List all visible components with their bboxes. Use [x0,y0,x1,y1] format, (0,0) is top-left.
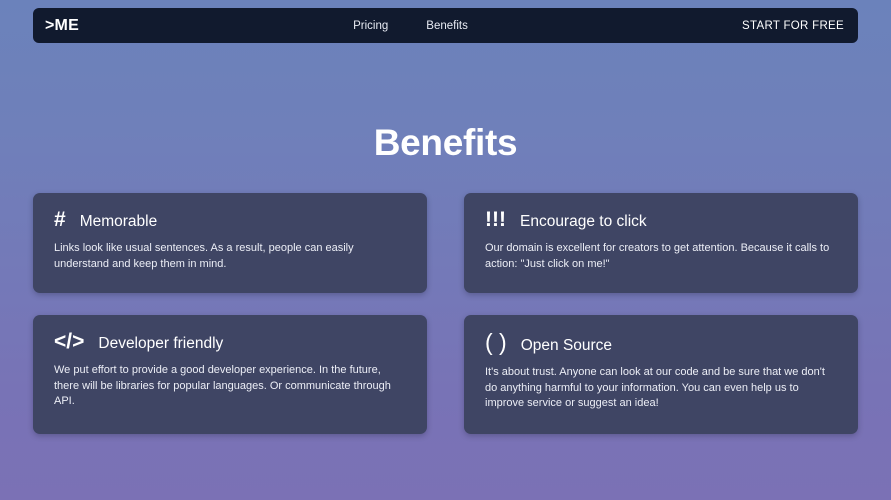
card-description: Links look like usual sentences. As a re… [54,241,406,272]
benefit-card-open-source: ( ) Open Source It's about trust. Anyone… [464,315,858,434]
benefit-card-developer-friendly: </> Developer friendly We put effort to … [33,315,427,434]
nav-links: Pricing Benefits [79,20,742,32]
card-header: # Memorable [54,209,407,230]
card-description: It's about trust. Anyone can look at our… [485,365,838,412]
card-description: We put effort to provide a good develope… [54,363,406,410]
card-header: </> Developer friendly [54,331,407,352]
hash-icon: # [54,209,66,230]
start-for-free-button[interactable]: START FOR FREE [742,18,844,34]
code-tag-icon: </> [54,331,84,352]
card-header: ( ) Open Source [485,331,838,354]
card-title: Memorable [80,214,158,230]
benefit-card-memorable: # Memorable Links look like usual senten… [33,193,427,293]
card-description: Our domain is excellent for creators to … [485,241,837,272]
benefits-grid: # Memorable Links look like usual senten… [33,193,858,434]
parentheses-icon: ( ) [485,331,507,354]
card-title: Developer friendly [98,336,223,352]
page-title: Benefits [0,122,891,164]
benefit-card-encourage-to-click: !!! Encourage to click Our domain is exc… [464,193,858,293]
card-title: Open Source [521,338,612,354]
top-navbar: >ME Pricing Benefits START FOR FREE [33,8,858,43]
nav-link-benefits[interactable]: Benefits [426,20,468,32]
brand-logo[interactable]: >ME [45,17,79,35]
card-title: Encourage to click [520,214,647,230]
nav-link-pricing[interactable]: Pricing [353,20,388,32]
exclamation-icon: !!! [485,209,506,230]
card-header: !!! Encourage to click [485,209,838,230]
